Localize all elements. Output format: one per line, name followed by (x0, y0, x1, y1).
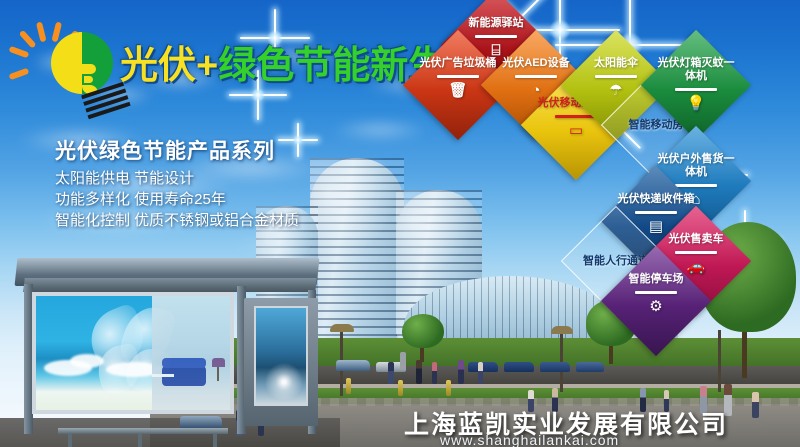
street-lamp-head (551, 326, 573, 334)
badge-b12[interactable]: 智能停车场⚙ (601, 246, 711, 356)
lamp-graphic (212, 358, 225, 367)
dandelion-graphic (262, 360, 306, 400)
badge-label: 光伏灯箱灭蚊一体机 (655, 57, 737, 83)
sofa-back-graphic (162, 358, 206, 368)
feature-list: 太阳能供电 节能设计 功能多样化 使用寿命25年 智能化控制 优质不锈钢或铝合金… (55, 168, 299, 231)
badge-divider (635, 211, 677, 214)
badge-divider (437, 75, 479, 78)
shelter-roof-underside (23, 278, 316, 292)
toilet-unit-icon: ▭ (569, 123, 583, 138)
parked-car (504, 362, 534, 372)
subtitle: 光伏绿色节能产品系列 (55, 135, 275, 165)
badge-label: 光伏AED设备 (495, 57, 577, 70)
badge-label: 光伏户外售货一体机 (655, 153, 737, 179)
badge-divider (675, 88, 717, 91)
badge-label: 新能源驿站 (455, 17, 537, 30)
badge-label: 智能停车场 (615, 273, 697, 286)
badge-content: 智能停车场⚙ (617, 262, 695, 340)
parked-car (576, 362, 604, 372)
headline-yellow: 光伏+ (120, 45, 218, 87)
feature-item: 功能多样化 使用寿命25年 (55, 189, 299, 210)
badge-divider (595, 75, 637, 78)
bench-leg (138, 434, 142, 447)
parked-car (540, 362, 570, 372)
pedestrian (478, 362, 483, 384)
badge-content: 光伏灯箱灭蚊一体机💡 (657, 46, 735, 124)
solar-bus-shelter (8, 258, 326, 438)
parked-car (336, 360, 370, 371)
trash-bin-icon: 🗑 (448, 83, 467, 98)
badge-divider (635, 291, 677, 294)
badge-divider (675, 251, 717, 254)
badge-label: 光伏广告垃圾桶 (417, 57, 499, 70)
badge-label: 光伏快递收件箱 (615, 193, 697, 206)
shelter-main-lightbox (32, 292, 234, 414)
bench-leg (68, 434, 72, 447)
tree-canopy (402, 314, 444, 348)
poster-canvas: 光伏+绿色节能新生活！ 光伏绿色节能产品系列 太阳能供电 节能设计 功能多样化 … (0, 0, 800, 447)
pedestrian (388, 362, 394, 384)
shelter-bench (58, 428, 228, 434)
bollard (346, 378, 351, 394)
table-graphic (152, 374, 174, 377)
pedestrian (416, 360, 422, 384)
badge-divider (515, 75, 557, 78)
lightbox-interior-scene (152, 296, 230, 410)
company-website: www.shanghailankai.com (440, 432, 619, 447)
badge-divider (475, 35, 517, 38)
street-lamp-head (330, 324, 354, 332)
pedestrian (432, 362, 437, 384)
pedestrian (752, 392, 759, 418)
parking-gear-icon: ⚙ (649, 299, 662, 314)
badge-label: 光伏售卖车 (655, 233, 737, 246)
feature-item: 智能化控制 优质不锈钢或铝合金材质 (55, 210, 299, 231)
bench-leg (213, 434, 217, 447)
bollard (398, 380, 403, 396)
parked-car (468, 362, 498, 372)
street-lamp-post (718, 330, 721, 392)
bollard (446, 380, 451, 396)
feature-item: 太阳能供电 节能设计 (55, 168, 299, 189)
bollard (400, 352, 406, 370)
badge-label: 太阳能伞 (575, 57, 657, 70)
pedestrian (458, 360, 464, 384)
lamp-stand-graphic (217, 367, 219, 381)
shelter-side-lightbox (254, 306, 308, 406)
badge-b7[interactable]: 光伏灯箱灭蚊一体机💡 (641, 30, 751, 140)
lamp-mosquito-icon: 💡 (687, 96, 706, 111)
